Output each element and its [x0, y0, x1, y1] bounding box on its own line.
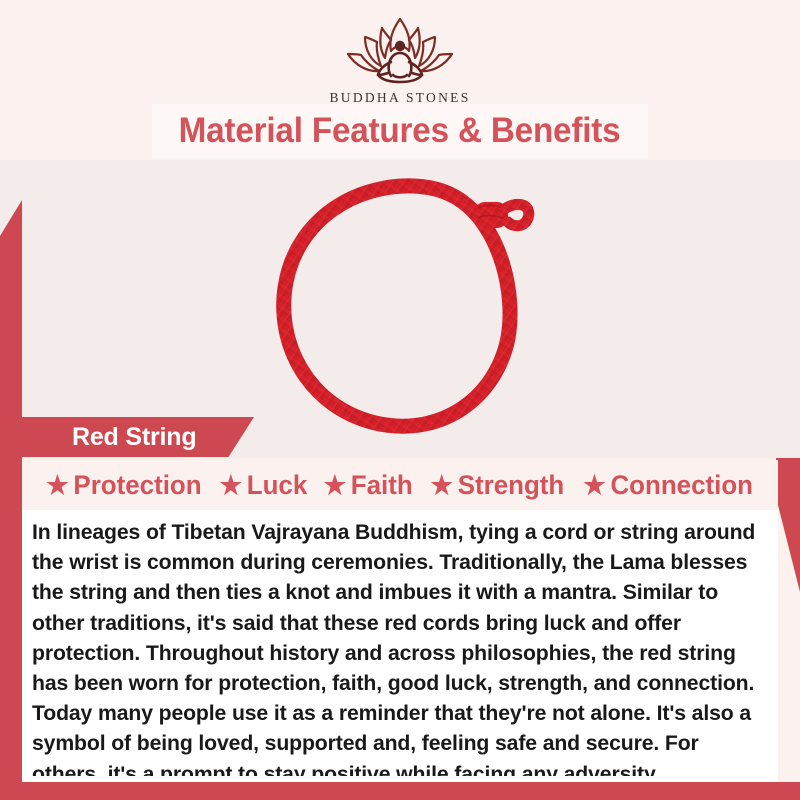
- page-title: Material Features & Benefits: [179, 111, 621, 151]
- red-string-bracelet-image: [228, 160, 572, 458]
- star-icon: ★: [46, 472, 68, 498]
- benefit-item-connection: ★ Connection: [571, 470, 753, 501]
- benefit-label: Strength: [458, 470, 565, 501]
- benefit-item-luck: ★ Luck: [207, 470, 307, 501]
- star-icon: ★: [430, 472, 452, 498]
- lotus-meditation-logo-icon: [325, 12, 475, 88]
- bottom-red-bar: [0, 782, 800, 800]
- benefit-label: Luck: [247, 470, 308, 501]
- material-label-banner: Red String: [22, 417, 254, 457]
- star-icon: ★: [584, 472, 606, 498]
- benefit-label: Protection: [73, 470, 201, 501]
- brand-logo: BUDDHA STONES: [0, 12, 800, 106]
- benefit-item-faith: ★ Faith: [311, 470, 413, 501]
- bottom-white-gap: [22, 776, 762, 782]
- star-icon: ★: [324, 472, 346, 498]
- description-text: In lineages of Tibetan Vajrayana Buddhis…: [22, 510, 778, 790]
- infographic-page: BUDDHA STONES Material Features & Benefi…: [0, 0, 800, 800]
- benefit-item-protection: ★ Protection: [46, 470, 201, 501]
- material-label: Red String: [72, 423, 196, 452]
- description-panel: In lineages of Tibetan Vajrayana Buddhis…: [22, 510, 778, 782]
- product-photo: [0, 160, 800, 458]
- benefit-label: Faith: [351, 470, 413, 501]
- benefits-list: ★ Protection ★ Luck ★ Faith ★ Strength ★…: [22, 460, 778, 510]
- benefit-item-strength: ★ Strength: [418, 470, 564, 501]
- benefit-label: Connection: [611, 470, 754, 501]
- star-icon: ★: [219, 472, 241, 498]
- left-red-bar: [0, 200, 22, 800]
- title-banner: Material Features & Benefits: [152, 104, 648, 158]
